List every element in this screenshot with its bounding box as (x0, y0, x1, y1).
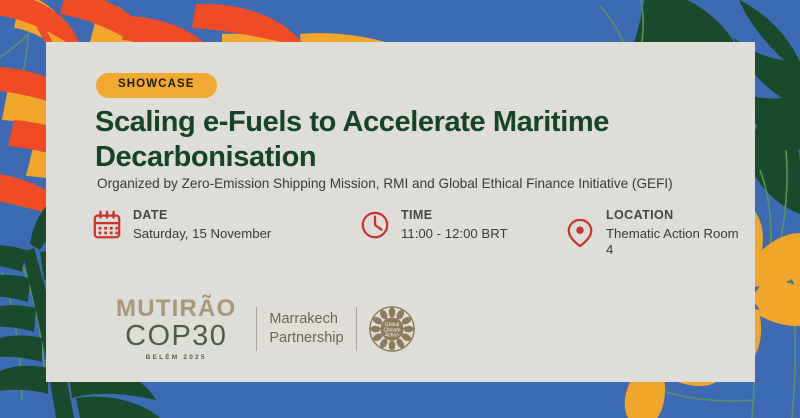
event-meta-row: DATE Saturday, 15 November TIME 11:00 - … (92, 208, 742, 260)
logo-divider (256, 307, 257, 351)
marrakech-line-1: Marrakech (269, 310, 343, 329)
cop30-text: COP30 (116, 322, 236, 351)
time-label: TIME (401, 208, 508, 224)
date-value: Saturday, 15 November (133, 226, 271, 243)
location-label: LOCATION (606, 208, 742, 224)
calendar-icon (92, 210, 122, 240)
status-badge: SHOWCASE (96, 73, 217, 98)
map-pin-icon (565, 218, 595, 248)
cop30-logo: MUTIRÃO COP30 BELÉM 2025 (116, 297, 236, 362)
meta-item-time: TIME 11:00 - 12:00 BRT (360, 208, 508, 242)
marrakech-partnership-logo: Marrakech Partnership (256, 306, 414, 352)
title-line-1: Scaling e-Fuels to Accelerate Maritime (95, 106, 609, 138)
event-banner: SHOWCASE Scaling e-Fuels to Accelerate M… (0, 0, 800, 418)
logo-strip: MUTIRÃO COP30 BELÉM 2025 Marrakech Partn… (116, 297, 415, 362)
time-value: 11:00 - 12:00 BRT (401, 226, 508, 243)
meta-item-date: DATE Saturday, 15 November (92, 208, 271, 242)
logo-divider-2 (356, 307, 357, 351)
flower-c (790, 246, 800, 292)
marrakech-line-2: Partnership (269, 329, 343, 348)
title-line-2: Decarbonisation (95, 141, 316, 173)
meta-item-location: LOCATION Thematic Action Room 4 (565, 208, 742, 259)
page-title: Scaling e-Fuels to Accelerate Maritime D… (95, 105, 735, 176)
event-card: SHOWCASE Scaling e-Fuels to Accelerate M… (46, 42, 755, 382)
organizers-text: Organized by Zero-Emission Shipping Miss… (97, 175, 757, 193)
seal-line-3: Action (385, 333, 399, 339)
clock-icon (360, 210, 390, 240)
date-label: DATE (133, 208, 271, 224)
cop30-mutirao-text: MUTIRÃO (116, 297, 236, 321)
global-climate-action-seal-icon: Global Climate Action (369, 306, 415, 352)
location-value: Thematic Action Room 4 (606, 226, 742, 259)
cop30-belem-text: BELÉM 2025 (116, 355, 236, 362)
